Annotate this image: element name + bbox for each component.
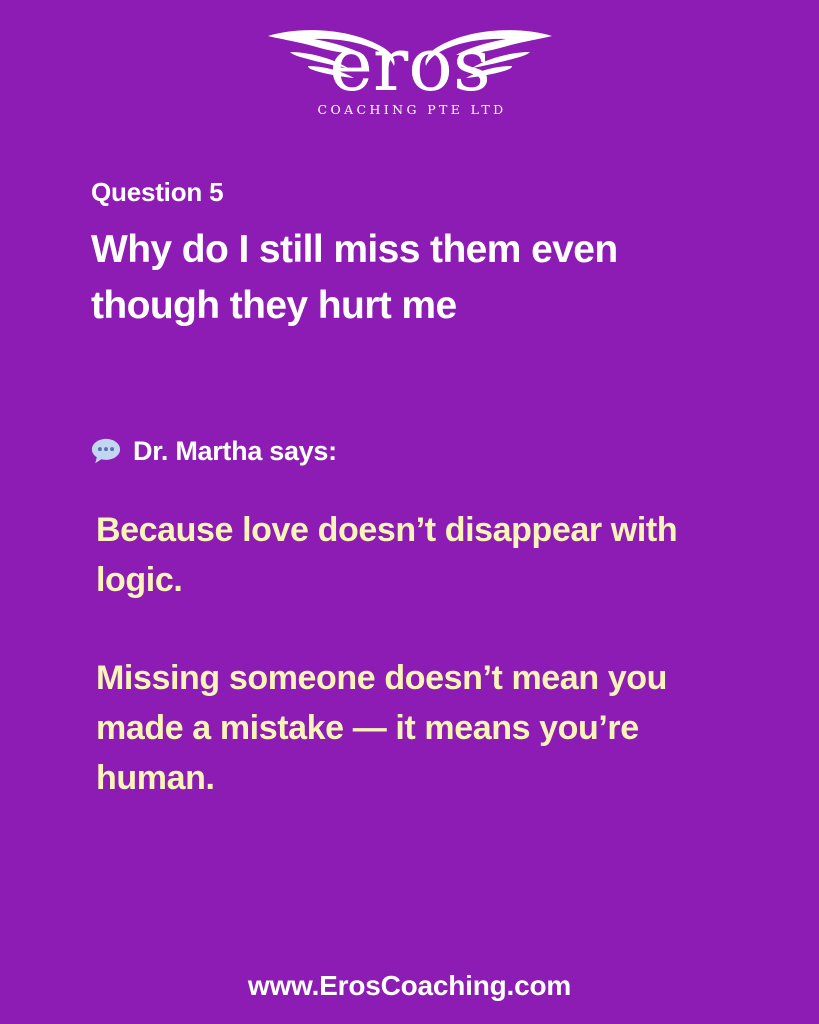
logo-wordmark: eros <box>329 22 491 108</box>
attribution-label: Dr. Martha says: <box>133 438 337 465</box>
website-url[interactable]: www.ErosCoaching.com <box>248 970 571 1001</box>
answer-paragraph: Missing someone doesn’t mean you made a … <box>96 654 711 803</box>
logo-tagline: COACHING PTE LTD <box>317 102 506 117</box>
post-card: eros COACHING PTE LTD Question 5 Why do … <box>0 0 819 1024</box>
attribution-row: Dr. Martha says: <box>91 436 759 466</box>
question-label: Question 5 <box>91 178 759 208</box>
content-area: Question 5 Why do I still miss them even… <box>91 178 759 803</box>
footer: www.ErosCoaching.com <box>0 972 819 1000</box>
answer-block: Because love doesn’t disappear with logi… <box>91 506 759 803</box>
answer-paragraph: Because love doesn’t disappear with logi… <box>96 506 711 605</box>
logo-graphic: eros COACHING PTE LTD <box>260 8 560 128</box>
question-title: Why do I still miss them even though the… <box>91 222 731 334</box>
speech-balloon-icon <box>91 436 121 466</box>
brand-logo: eros COACHING PTE LTD <box>0 8 819 128</box>
